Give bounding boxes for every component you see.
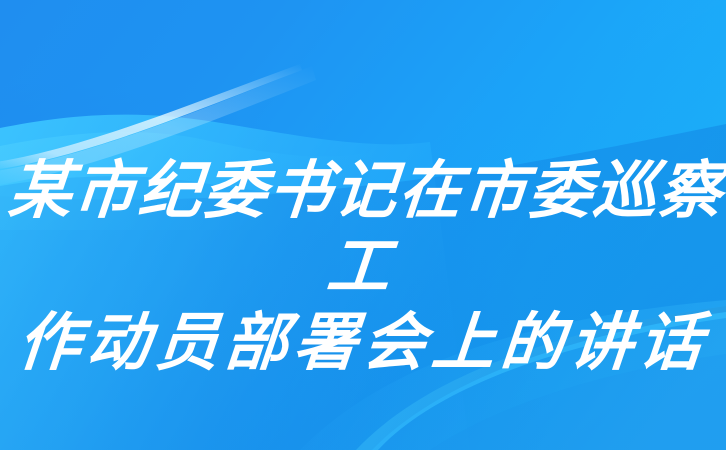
banner-title: 某市纪委书记在市委巡察工 作动员部署会上的讲话 xyxy=(0,152,726,380)
title-line-1: 某市纪委书记在市委巡察工 xyxy=(0,152,726,304)
banner-container: 某市纪委书记在市委巡察工 作动员部署会上的讲话 xyxy=(0,0,726,450)
title-line-2: 作动员部署会上的讲话 xyxy=(0,304,726,380)
